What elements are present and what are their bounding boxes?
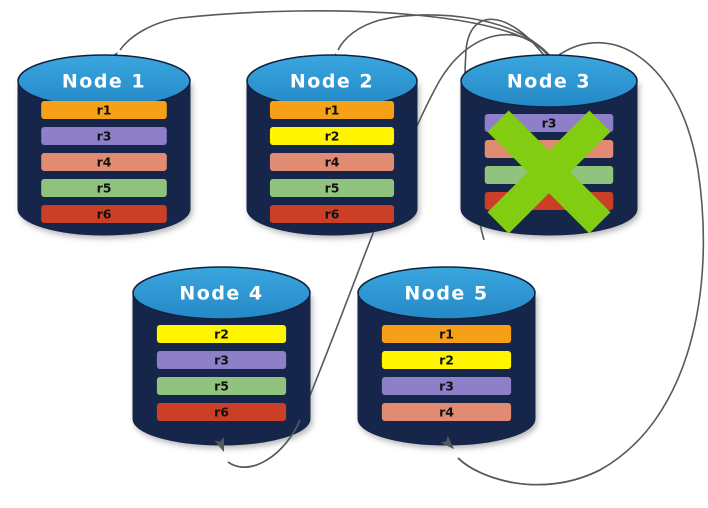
edge-node3-to-node5-front [458, 458, 600, 485]
edge-node3-to-node4-arrowhead-front [215, 437, 229, 454]
overlay-layer [0, 0, 708, 508]
edge-node3-to-node5-arrowhead-front [441, 436, 458, 453]
edge-node3-to-node4-front [228, 420, 300, 467]
diagram-canvas: Node 1r1r3r4r5r6Node 2r1r2r4r5r6Node 3r3… [0, 0, 708, 508]
node-failure-x-icon [487, 110, 610, 233]
